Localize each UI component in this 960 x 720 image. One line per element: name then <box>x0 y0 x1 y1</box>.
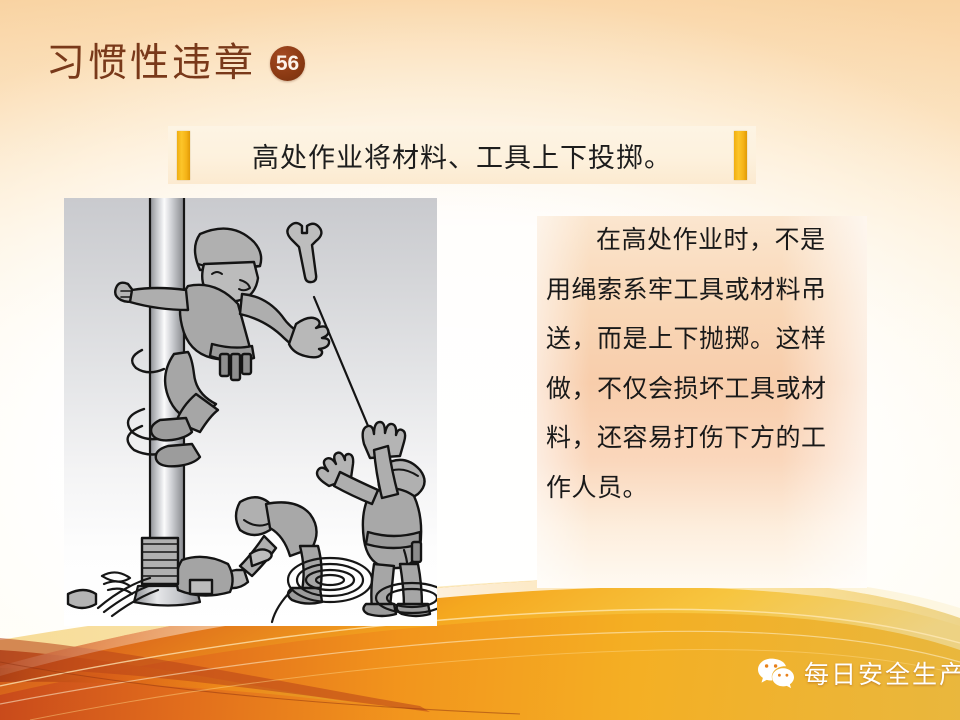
body-line-4: 做，不仅会损坏工具或材 <box>546 365 858 415</box>
body-line-3: 送，而是上下抛掷。这样 <box>546 315 858 365</box>
page-header: 习惯性违章 56 <box>46 44 305 83</box>
slide-number-badge: 56 <box>270 46 305 81</box>
body-line-2: 用绳索系牢工具或材料吊 <box>546 266 858 316</box>
slide-canvas: 习惯性违章 56 高处作业将材料、工具上下投掷。 <box>0 0 960 720</box>
body-paragraph: 在高处作业时，不是 用绳索系牢工具或材料吊 送，而是上下抛掷。这样 做，不仅会损… <box>537 216 867 513</box>
page-title: 习惯性违章 <box>46 44 256 83</box>
worker-throwing-tool-illustration <box>64 198 437 626</box>
body-line-6: 作人员。 <box>546 464 858 514</box>
illustration-panel <box>64 198 437 626</box>
banner-right-bar <box>734 131 747 180</box>
watermark-text: 每日安全生产 <box>804 655 960 691</box>
banner-text: 高处作业将材料、工具上下投掷。 <box>190 136 734 175</box>
footer-watermark: 每日安全生产 <box>757 655 960 691</box>
wechat-icon <box>757 657 795 689</box>
subtitle-banner: 高处作业将材料、工具上下投掷。 <box>168 126 756 184</box>
body-line-1: 在高处作业时，不是 <box>546 216 858 266</box>
body-line-5: 料，还容易打伤下方的工 <box>546 414 858 464</box>
body-text-panel: 在高处作业时，不是 用绳索系牢工具或材料吊 送，而是上下抛掷。这样 做，不仅会损… <box>537 216 867 588</box>
banner-left-bar <box>177 131 190 180</box>
